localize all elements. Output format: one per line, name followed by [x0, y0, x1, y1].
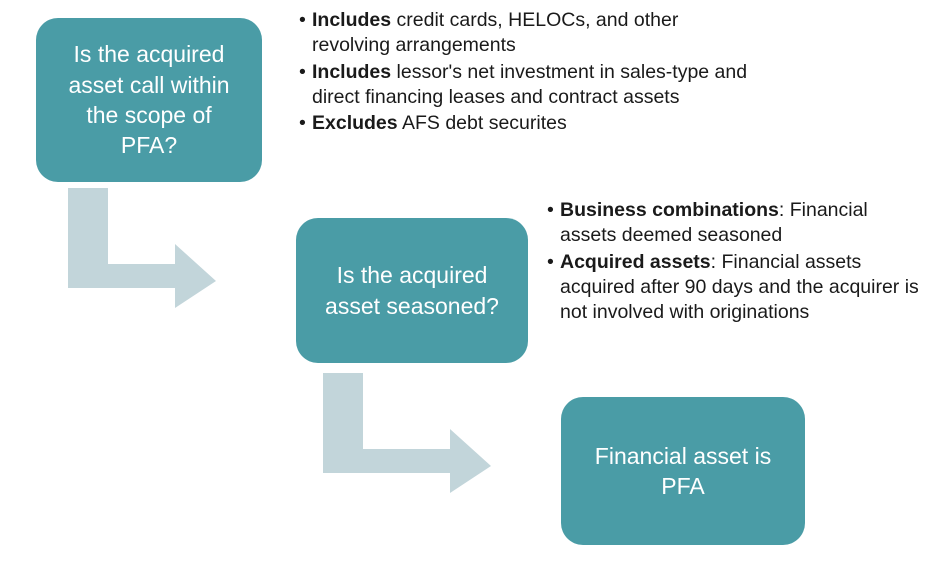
decision-node-scope-label: Is the acquired asset call within the sc…: [54, 39, 243, 160]
note-bullet-lead: Acquired assets: [560, 251, 711, 273]
decision-node-seasoned-label: Is the acquired asset seasoned?: [311, 260, 513, 321]
note-group-seasoned: • Business combinations: Financial asset…: [547, 198, 919, 327]
note-bullet-text: Excludes AFS debt securites: [312, 111, 751, 136]
bullet-dot-icon: •: [547, 198, 560, 223]
bullet-dot-icon: •: [299, 60, 312, 85]
note-bullet-lead: Business combinations: [560, 199, 779, 221]
bullet-dot-icon: •: [299, 111, 312, 136]
note-bullet-text: Includes lessor's net investment in sale…: [312, 60, 751, 111]
note-bullet-lead: Includes: [312, 9, 391, 31]
note-bullet-item: • Acquired assets: Financial assets acqu…: [547, 250, 919, 326]
note-bullet-item: • Business combinations: Financial asset…: [547, 198, 919, 249]
elbow-arrow-shape: [323, 373, 491, 493]
decision-node-seasoned[interactable]: Is the acquired asset seasoned?: [296, 218, 528, 363]
outcome-node-result-label: Financial asset is PFA: [581, 441, 785, 502]
note-bullet-item: • Includes lessor's net investment in sa…: [299, 60, 751, 111]
note-bullet-lead: Includes: [312, 61, 391, 83]
elbow-arrow-shape: [68, 188, 216, 308]
bullet-dot-icon: •: [299, 8, 312, 33]
note-bullet-lead: Excludes: [312, 112, 398, 134]
elbow-arrow-scope-to-seasoned: [64, 186, 220, 310]
note-bullet-rest: AFS debt securites: [398, 112, 567, 134]
note-bullet-text: Business combinations: Financial assets …: [560, 198, 919, 249]
note-bullet-text: Acquired assets: Financial assets acquir…: [560, 250, 919, 326]
bullet-dot-icon: •: [547, 250, 560, 275]
outcome-node-result[interactable]: Financial asset is PFA: [561, 397, 805, 545]
flowchart-canvas: Is the acquired asset call within the sc…: [0, 0, 948, 575]
decision-node-scope[interactable]: Is the acquired asset call within the sc…: [36, 18, 262, 182]
note-bullet-item: • Excludes AFS debt securites: [299, 111, 751, 136]
note-group-scope: • Includes credit cards, HELOCs, and oth…: [299, 8, 751, 138]
note-bullet-text: Includes credit cards, HELOCs, and other…: [312, 8, 751, 59]
note-bullet-item: • Includes credit cards, HELOCs, and oth…: [299, 8, 751, 59]
elbow-arrow-seasoned-to-result: [319, 371, 495, 495]
